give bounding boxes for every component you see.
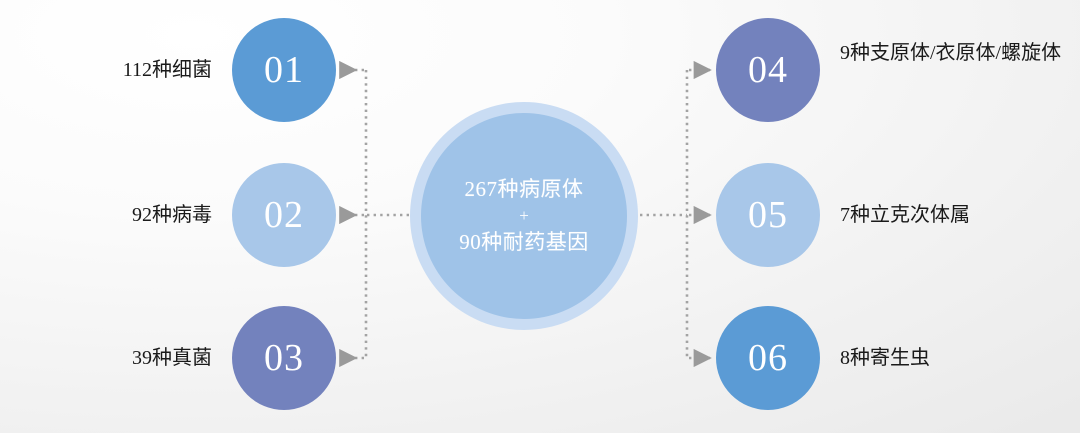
node-04[interactable]: 04 <box>716 18 820 122</box>
center-line-1: 267种病原体 <box>465 174 584 205</box>
center-line-2: 90种耐药基因 <box>459 227 589 258</box>
node-05[interactable]: 05 <box>716 163 820 267</box>
center-plus-sign: + <box>519 205 529 227</box>
node-01[interactable]: 01 <box>232 18 336 122</box>
node-02[interactable]: 02 <box>232 163 336 267</box>
node-04-label: 9种支原体/衣原体/螺旋体 <box>840 36 1070 70</box>
node-01-number: 01 <box>264 51 304 89</box>
node-03-label: 39种真菌 <box>12 341 212 375</box>
node-06[interactable]: 06 <box>716 306 820 410</box>
node-04-number: 04 <box>748 51 788 89</box>
node-06-number: 06 <box>748 339 788 377</box>
node-03[interactable]: 03 <box>232 306 336 410</box>
center-hub-inner: 267种病原体 + 90种耐药基因 <box>421 113 627 319</box>
node-01-label: 112种细菌 <box>12 53 212 87</box>
node-02-label: 92种病毒 <box>12 198 212 232</box>
node-06-label: 8种寄生虫 <box>840 341 1070 375</box>
node-03-number: 03 <box>264 339 304 377</box>
pathogen-panel-diagram: 267种病原体 + 90种耐药基因 01 112种细菌 02 92种病毒 03 … <box>0 0 1080 433</box>
node-05-number: 05 <box>748 196 788 234</box>
center-hub: 267种病原体 + 90种耐药基因 <box>410 102 638 330</box>
node-05-label: 7种立克次体属 <box>840 198 1070 232</box>
node-02-number: 02 <box>264 196 304 234</box>
